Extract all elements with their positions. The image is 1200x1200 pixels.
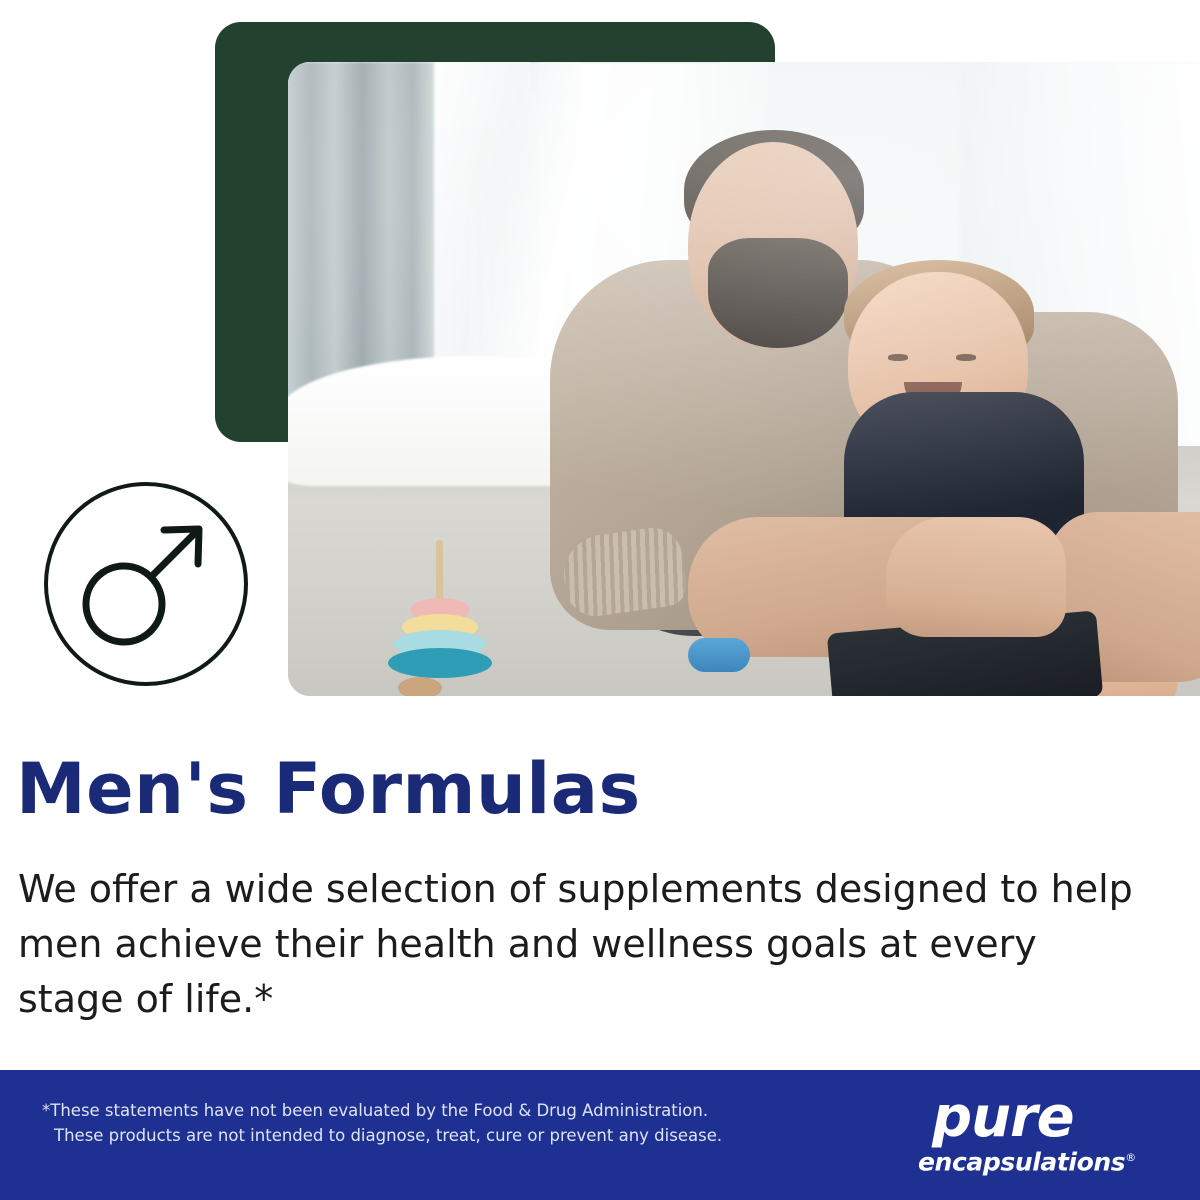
footer-bar: *These statements have not been evaluate… bbox=[0, 1070, 1200, 1200]
photo-stacking-ring-teal bbox=[388, 648, 492, 678]
photo-man-beard bbox=[708, 238, 848, 348]
male-symbol-icon bbox=[36, 474, 256, 694]
photo-wood-toy bbox=[398, 677, 442, 696]
disclaimer-text: *These statements have not been evaluate… bbox=[42, 1098, 802, 1148]
page-title: Men's Formulas bbox=[16, 748, 641, 830]
hero-section bbox=[0, 0, 1200, 710]
disclaimer-line-1: *These statements have not been evaluate… bbox=[42, 1101, 708, 1120]
brand-logo[interactable]: pure encapsulations® bbox=[918, 1092, 1148, 1178]
hero-photo bbox=[288, 62, 1200, 696]
disclaimer-line-2: These products are not intended to diagn… bbox=[42, 1123, 802, 1148]
brand-logo-primary: pure bbox=[918, 1092, 1148, 1144]
brand-logo-secondary-wrap: encapsulations® bbox=[918, 1144, 1148, 1176]
registered-trademark-mark: ® bbox=[1125, 1151, 1136, 1164]
photo-blue-toy-block bbox=[688, 638, 750, 672]
brand-logo-secondary: encapsulations bbox=[918, 1147, 1125, 1176]
photo-child-eye-right bbox=[956, 354, 976, 361]
photo-child-eye-left bbox=[888, 354, 908, 361]
photo-scene bbox=[288, 62, 1200, 696]
page-description: We offer a wide selection of supplements… bbox=[18, 862, 1133, 1027]
photo-man-hand bbox=[886, 517, 1066, 637]
